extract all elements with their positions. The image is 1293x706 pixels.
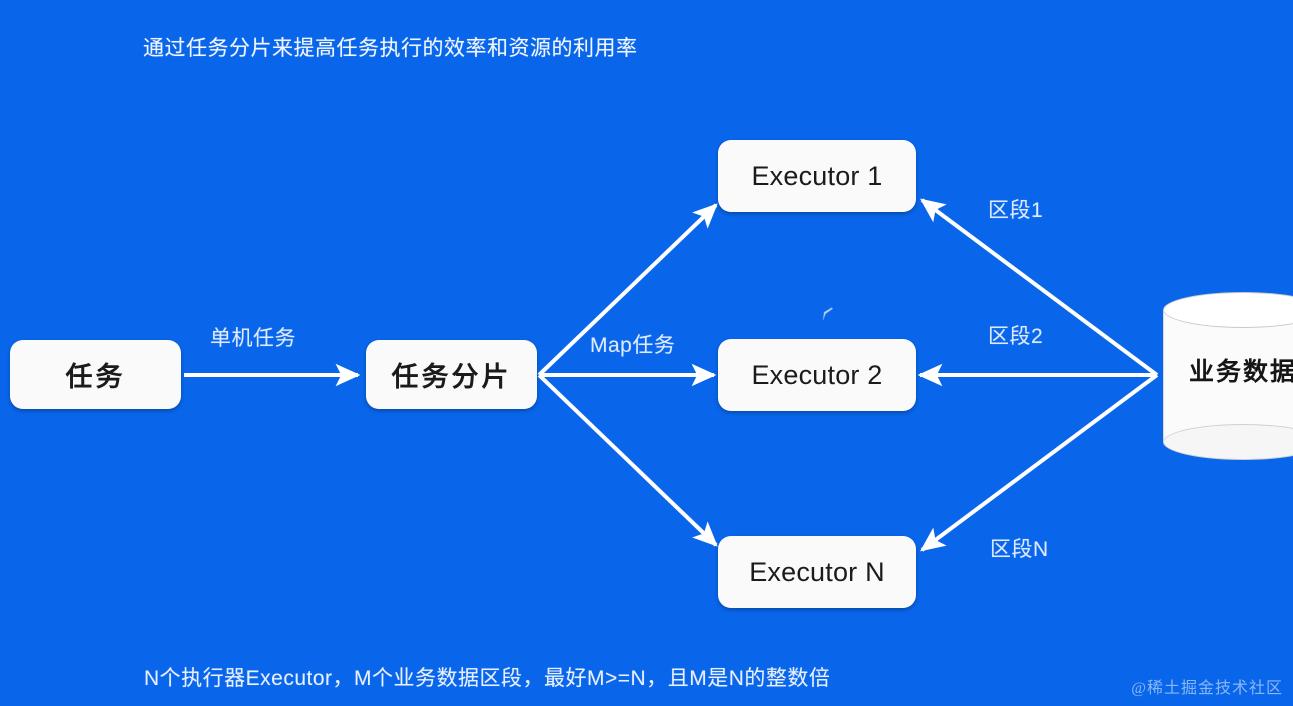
node-task-shard-label: 任务分片 bbox=[392, 355, 512, 394]
edge-label-single-machine-task: 单机任务 bbox=[210, 322, 296, 352]
edge-label-map-task: Map任务 bbox=[590, 329, 675, 359]
cylinder-bottom-ellipse bbox=[1163, 424, 1293, 460]
edge-label-segment-n: 区段N bbox=[990, 533, 1049, 563]
node-executor-1[interactable]: Executor 1 bbox=[718, 140, 916, 212]
mouse-cursor-icon bbox=[822, 307, 834, 321]
database-cylinder-icon[interactable]: 业务数据 bbox=[1163, 292, 1293, 460]
edge-datastore-to-executorn bbox=[922, 375, 1157, 550]
node-executor-n[interactable]: Executor N bbox=[718, 536, 916, 608]
edge-label-segment-2: 区段2 bbox=[988, 320, 1043, 350]
node-executor-2[interactable]: Executor 2 bbox=[718, 339, 916, 411]
node-executor-1-label: Executor 1 bbox=[751, 161, 882, 192]
diagram-canvas: 通过任务分片来提高任务执行的效率和资源的利用率 任务 任务分片 Executor… bbox=[0, 0, 1293, 706]
node-task-shard[interactable]: 任务分片 bbox=[366, 340, 537, 409]
node-datastore-label: 业务数据 bbox=[1163, 352, 1293, 388]
node-executor-2-label: Executor 2 bbox=[751, 360, 882, 391]
node-task[interactable]: 任务 bbox=[10, 340, 181, 409]
diagram-title: 通过任务分片来提高任务执行的效率和资源的利用率 bbox=[143, 32, 638, 62]
diagram-footer-caption: N个执行器Executor，M个业务数据区段，最好M>=N，且M是N的整数倍 bbox=[144, 662, 830, 692]
node-task-label: 任务 bbox=[66, 355, 126, 394]
edge-shard-to-executorn bbox=[539, 375, 716, 545]
edge-label-segment-1: 区段1 bbox=[988, 194, 1043, 224]
watermark: @稀土掘金技术社区 bbox=[1131, 674, 1283, 698]
node-executor-n-label: Executor N bbox=[749, 557, 885, 588]
